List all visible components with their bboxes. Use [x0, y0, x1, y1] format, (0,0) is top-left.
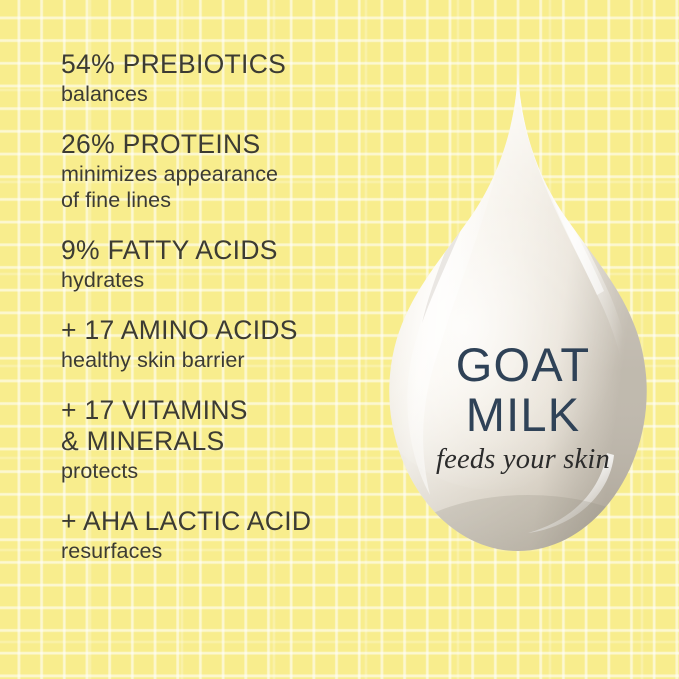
ingredient-title: + AHA LACTIC ACID: [61, 506, 391, 537]
ingredient-list: 54% PREBIOTICS balances 26% PROTEINS min…: [61, 49, 391, 564]
ingredient-benefit: resurfaces: [61, 538, 391, 564]
product-ingredient-poster: 54% PREBIOTICS balances 26% PROTEINS min…: [0, 0, 679, 679]
ingredient-item-fatty-acids: 9% FATTY ACIDS hydrates: [61, 235, 391, 293]
ingredient-title: + 17 AMINO ACIDS: [61, 315, 391, 346]
ingredient-title: 26% PROTEINS: [61, 129, 391, 160]
ingredient-benefit: minimizes appearance of fine lines: [61, 161, 391, 213]
ingredient-benefit: protects: [61, 458, 391, 484]
ingredient-title: + 17 VITAMINS & MINERALS: [61, 395, 391, 457]
ingredient-title: 9% FATTY ACIDS: [61, 235, 391, 266]
ingredient-title: 54% PREBIOTICS: [61, 49, 391, 80]
ingredient-item-vitamins-minerals: + 17 VITAMINS & MINERALS protects: [61, 395, 391, 484]
droplet-icon: [378, 55, 668, 565]
ingredient-item-proteins: 26% PROTEINS minimizes appearance of fin…: [61, 129, 391, 213]
ingredient-benefit: healthy skin barrier: [61, 347, 391, 373]
ingredient-benefit: hydrates: [61, 267, 391, 293]
ingredient-item-prebiotics: 54% PREBIOTICS balances: [61, 49, 391, 107]
ingredient-item-aha-lactic-acid: + AHA LACTIC ACID resurfaces: [61, 506, 391, 564]
ingredient-item-amino-acids: + 17 AMINO ACIDS healthy skin barrier: [61, 315, 391, 373]
ingredient-benefit: balances: [61, 81, 391, 107]
milk-droplet-graphic: GOAT MILK feeds your skin: [378, 55, 668, 565]
